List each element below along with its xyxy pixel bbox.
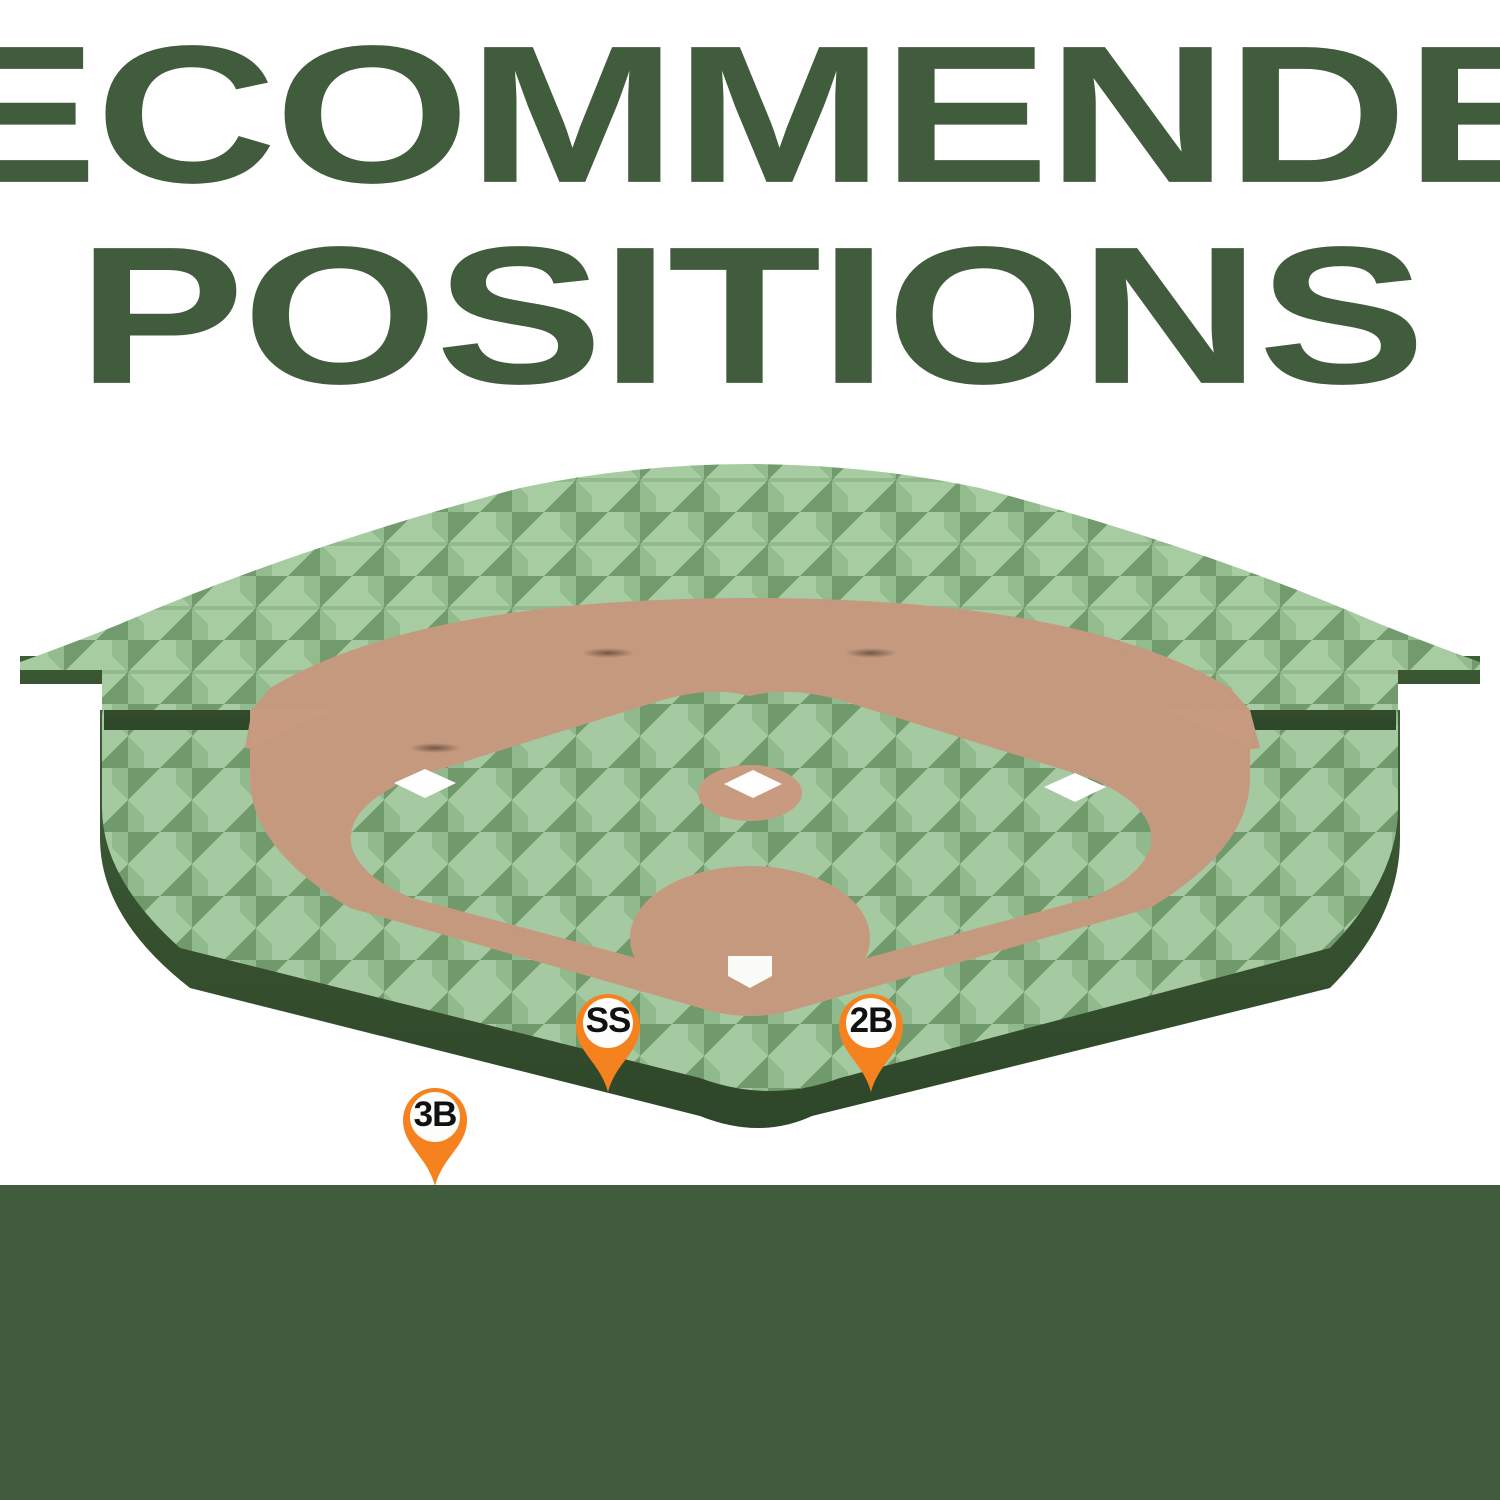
map-pin-icon (397, 1082, 473, 1186)
field-svg (0, 448, 1500, 1138)
map-pin-icon (833, 988, 909, 1092)
map-pin-icon (570, 988, 646, 1092)
title-line-1: RECOMMENDED (0, 24, 1500, 208)
positions-banner: Second Base Short Stop Third Base (0, 1185, 1500, 1500)
baseball-field-diagram: SS 2B 3B (0, 448, 1500, 1138)
title-line-2: POSITIONS (0, 225, 1500, 409)
recommended-positions-infographic: RECOMMENDED POSITIONS (0, 0, 1500, 1500)
marker-short-stop[interactable]: SS (570, 988, 646, 1092)
marker-third-base[interactable]: 3B (397, 1082, 473, 1186)
marker-second-base[interactable]: 2B (833, 988, 909, 1092)
page-title: RECOMMENDED POSITIONS (0, 24, 1500, 389)
